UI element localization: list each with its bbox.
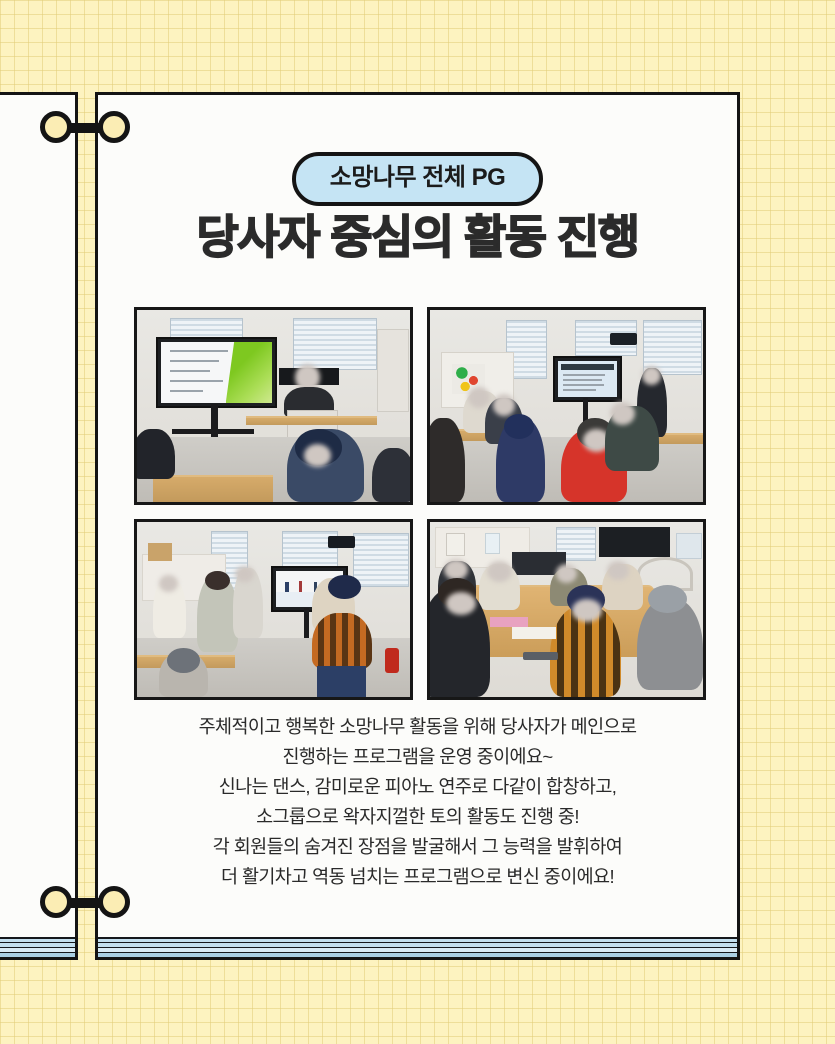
clasp-ring-right [98, 886, 130, 918]
clasp-ring-left [40, 886, 72, 918]
body-line-3: 신나는 댄스, 감미로운 피아노 연주로 다같이 합창하고, [115, 772, 720, 802]
badge-container: 소망나무 전체 PG [95, 152, 740, 206]
program-badge: 소망나무 전체 PG [292, 152, 544, 206]
poster-content: 소망나무 전체 PG 당사자 중심의 활동 진행 [95, 92, 740, 960]
poster-root: 소망나무 전체 PG 당사자 중심의 활동 진행 [0, 0, 835, 1044]
clasp-ring-left [40, 111, 72, 143]
photo-dance-activity [134, 519, 413, 700]
body-line-5: 각 회원들의 숨겨진 장점을 발굴해서 그 능력을 발휘하여 [115, 832, 720, 862]
photo-small-group-discussion [427, 519, 706, 700]
side-panel-left [0, 92, 78, 960]
photo-presentation-green-slide [134, 307, 413, 505]
stripe-band-left [0, 937, 75, 957]
page-title: 당사자 중심의 활동 진행 [95, 210, 740, 265]
body-line-1: 주체적이고 행복한 소망나무 활동을 위해 당사자가 메인으로 [115, 712, 720, 742]
clasp-ring-right [98, 111, 130, 143]
body-line-6: 더 활기차고 역동 넘치는 프로그램으로 변신 중이에요! [115, 862, 720, 892]
body-paragraph: 주체적이고 행복한 소망나무 활동을 위해 당사자가 메인으로 진행하는 프로그… [115, 712, 720, 892]
photo-classroom-group-listening [427, 307, 706, 505]
binder-clasp-top-icon [40, 111, 130, 145]
body-line-4: 소그룹으로 왁자지껄한 토의 활동도 진행 중! [115, 802, 720, 832]
photo-grid [134, 307, 706, 700]
body-line-2: 진행하는 프로그램을 운영 중이에요~ [115, 742, 720, 772]
binder-clasp-bottom-icon [40, 886, 130, 920]
